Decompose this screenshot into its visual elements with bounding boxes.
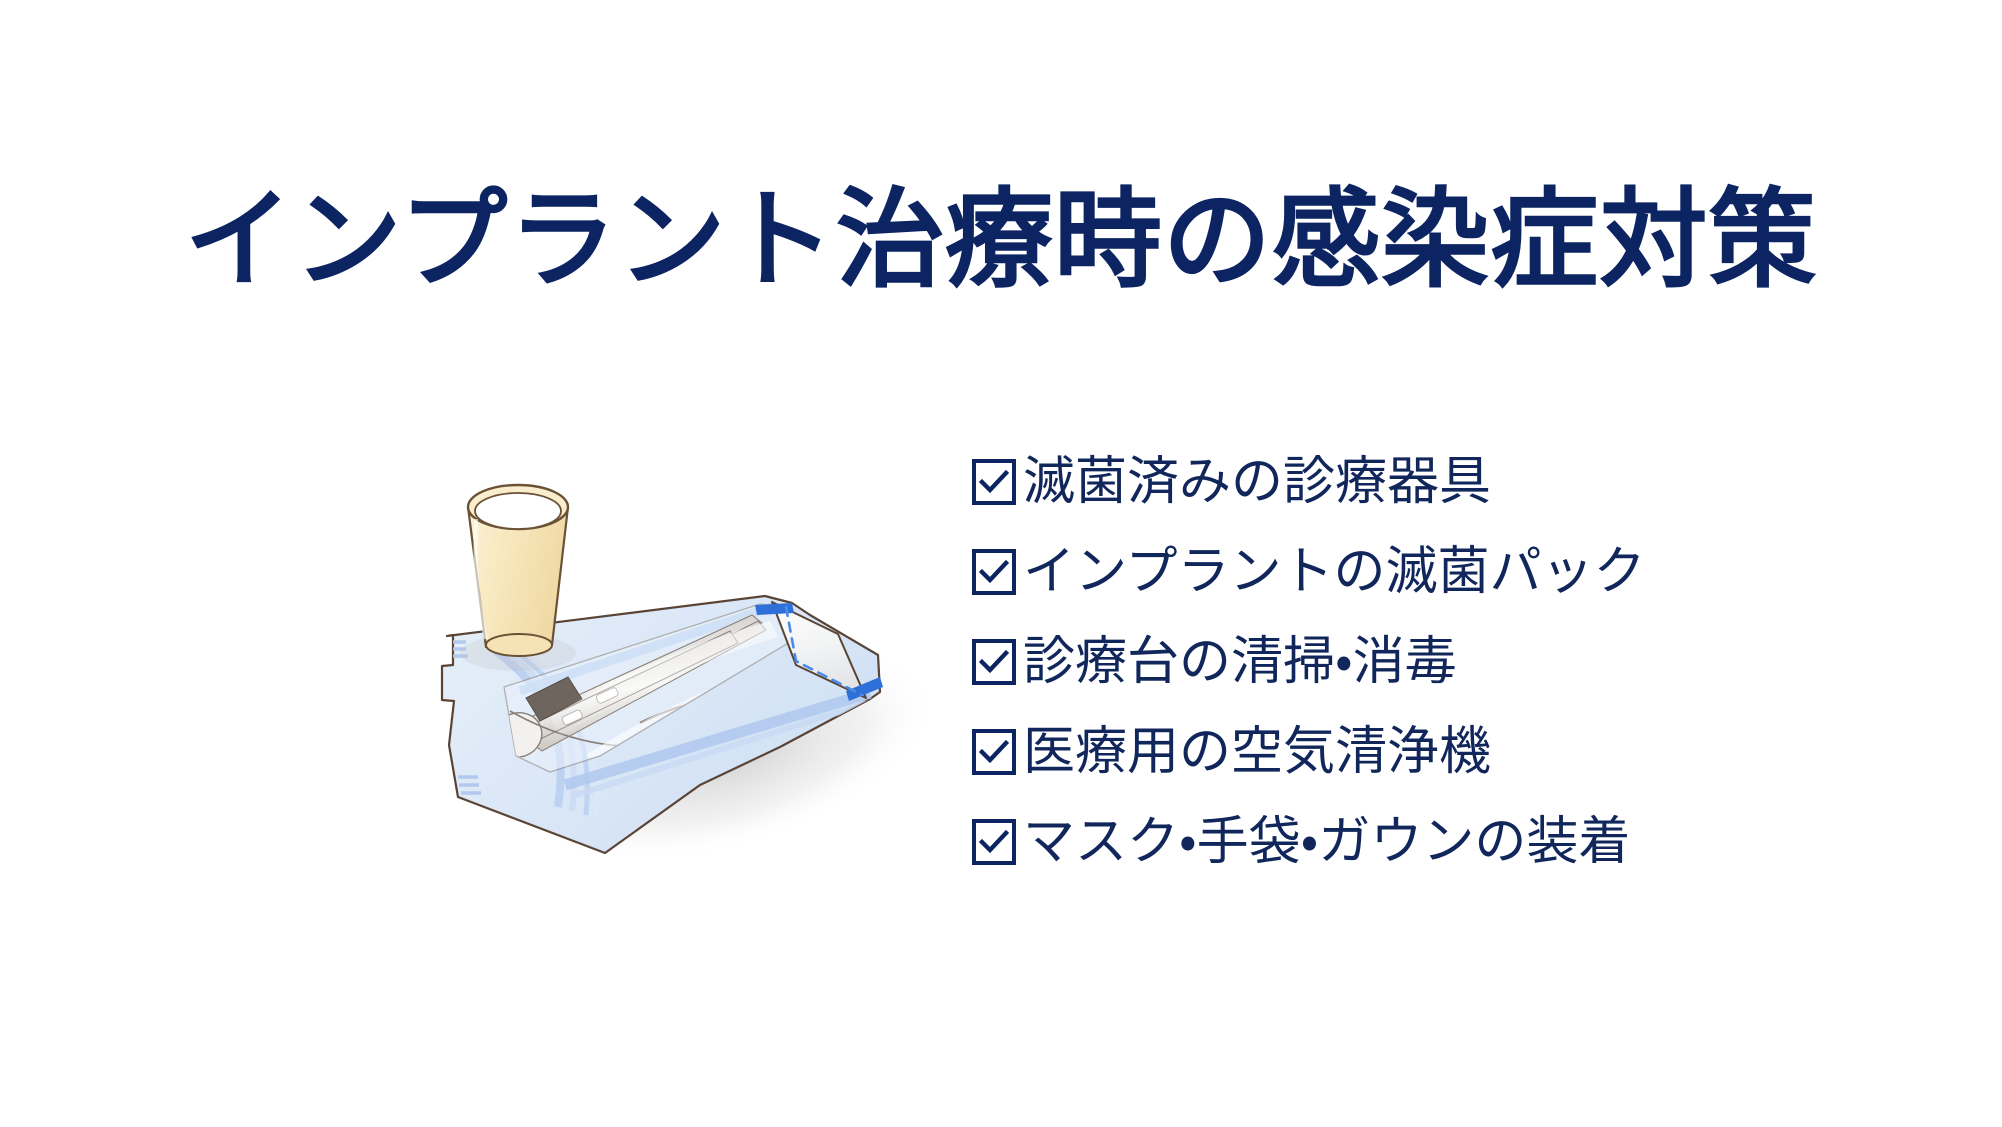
checkbox-checked-icon[interactable] — [972, 459, 1016, 505]
slide-canvas: インプラント治療時の感染症対策 — [0, 0, 2002, 1127]
sterilization-pouch-illustration — [400, 455, 960, 885]
list-item-label: マスク・手袋・ガウンの装着 — [1023, 816, 1630, 868]
list-item[interactable]: 診療台の清掃・消毒 — [972, 617, 1792, 707]
cup-bottom — [486, 634, 552, 656]
page-title: インプラント治療時の感染症対策 — [0, 178, 2002, 302]
checkbox-checked-icon[interactable] — [972, 819, 1016, 865]
paper-cup — [460, 485, 576, 671]
list-item[interactable]: マスク・手袋・ガウンの装着 — [972, 797, 1792, 887]
checkbox-checked-icon[interactable] — [972, 639, 1016, 685]
list-item-label: 医療用の空気清浄機 — [1023, 726, 1491, 778]
list-item-label: 診療台の清掃・消毒 — [1023, 636, 1457, 688]
list-item[interactable]: 滅菌済みの診療器具 — [972, 437, 1792, 527]
checkbox-checked-icon[interactable] — [972, 549, 1016, 595]
list-item[interactable]: 医療用の空気清浄機 — [972, 707, 1792, 797]
infection-control-checklist: 滅菌済みの診療器具 インプラントの滅菌パック 診療台の清掃・消毒 — [972, 437, 1792, 887]
checkbox-checked-icon[interactable] — [972, 729, 1016, 775]
cup-rim-inner — [475, 493, 561, 529]
list-item[interactable]: インプラントの滅菌パック — [972, 527, 1792, 617]
list-item-label: インプラントの滅菌パック — [1023, 546, 1645, 598]
list-item-label: 滅菌済みの診療器具 — [1023, 456, 1491, 508]
